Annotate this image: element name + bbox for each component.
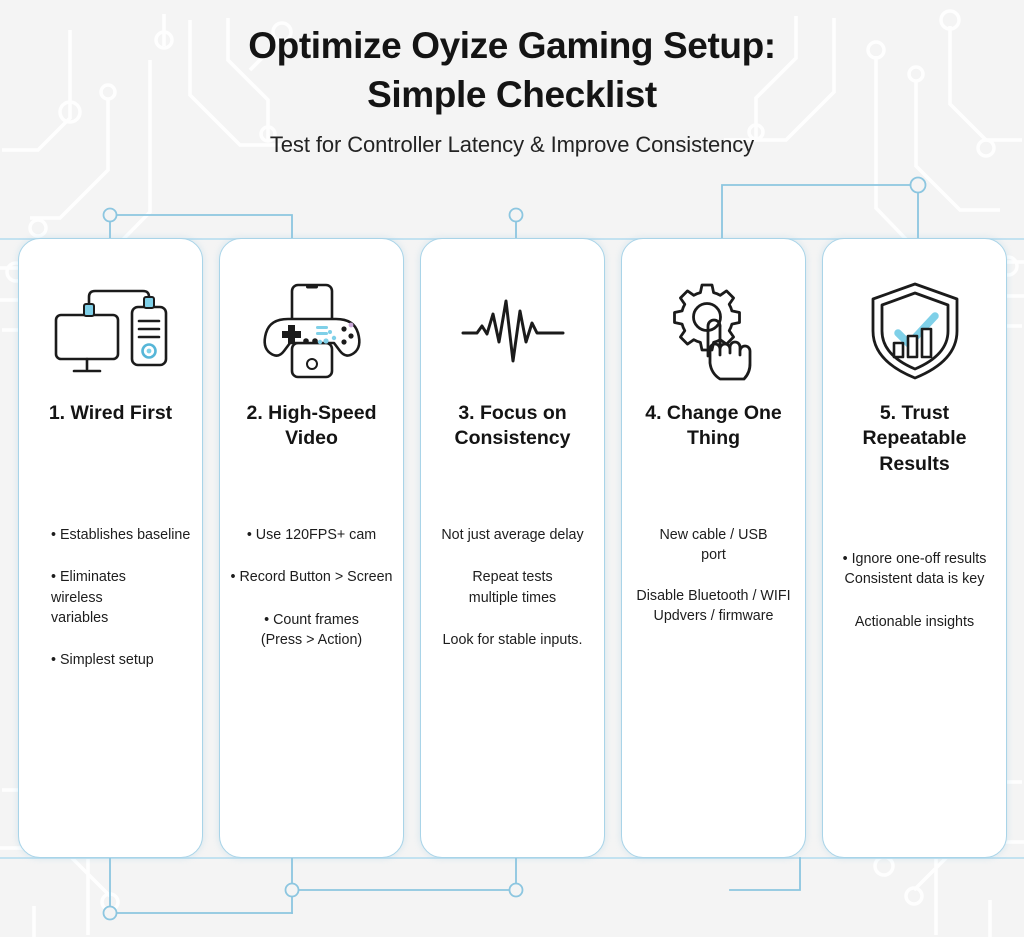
card-line: Ignore one-off results Consistent data i… xyxy=(841,549,989,590)
desktop-pc-wired-icon xyxy=(52,279,170,383)
header: Optimize Oyize Gaming Setup: Simple Chec… xyxy=(0,0,1024,158)
card-title-3: 3. Focus on Consistency xyxy=(429,401,596,453)
gear-hand-click-icon xyxy=(662,279,766,383)
card-line: Use 120FPS+ cam xyxy=(245,525,378,545)
card-line: Establishes baseline xyxy=(47,525,192,545)
card-title-4: 4. Change One Thing xyxy=(630,401,797,453)
waveform-pulse-icon xyxy=(461,279,565,383)
gamepad-phone-icon xyxy=(258,279,366,383)
card-line: Repeat tests multiple times xyxy=(467,567,558,608)
card-line: Simplest setup xyxy=(47,650,156,670)
page-title: Optimize Oyize Gaming Setup: Simple Chec… xyxy=(0,22,1024,120)
checklist-card-3[interactable]: 3. Focus on Consistency Not just average… xyxy=(420,238,605,858)
card-line: Disable Bluetooth / WIFI Updvers / firmw… xyxy=(634,586,792,627)
card-line: Look for stable inputs. xyxy=(441,630,585,650)
checklist-card-5[interactable]: 5. Trust Repeatable Results Ignore one-o… xyxy=(822,238,1007,858)
card-line: Not just average delay xyxy=(439,525,585,545)
card-body-5: Ignore one-off results Consistent data i… xyxy=(831,549,998,632)
card-line: Record Button > Screen xyxy=(229,567,395,587)
card-line: Count frames (Press > Action) xyxy=(259,610,364,651)
shield-check-chart-icon xyxy=(867,279,963,383)
checklist-card-4[interactable]: 4. Change One Thing New cable / USB port… xyxy=(621,238,806,858)
checklist-card-row: 1. Wired First Establishes baseline Elim… xyxy=(18,238,1007,858)
card-body-1: Establishes baseline Eliminates wireless… xyxy=(27,525,194,670)
card-line: Actionable insights xyxy=(853,612,976,632)
page-title-line-1: Optimize Oyize Gaming Setup: xyxy=(0,22,1024,71)
checklist-card-1[interactable]: 1. Wired First Establishes baseline Elim… xyxy=(18,238,203,858)
card-title-5: 5. Trust Repeatable Results xyxy=(831,401,998,477)
card-title-1: 1. Wired First xyxy=(45,401,176,453)
page-title-line-2: Simple Checklist xyxy=(0,71,1024,120)
card-line: New cable / USB port xyxy=(657,525,769,566)
card-title-2: 2. High-Speed Video xyxy=(228,401,395,453)
checklist-card-2[interactable]: 2. High-Speed Video Use 120FPS+ cam Reco… xyxy=(219,238,404,858)
card-line: Eliminates wireless variables xyxy=(47,567,128,628)
card-body-4: New cable / USB port Disable Bluetooth /… xyxy=(630,525,797,626)
card-body-3: Not just average delay Repeat tests mult… xyxy=(429,525,596,650)
card-body-2: Use 120FPS+ cam Record Button > Screen C… xyxy=(228,525,395,650)
page-subtitle: Test for Controller Latency & Improve Co… xyxy=(0,132,1024,158)
